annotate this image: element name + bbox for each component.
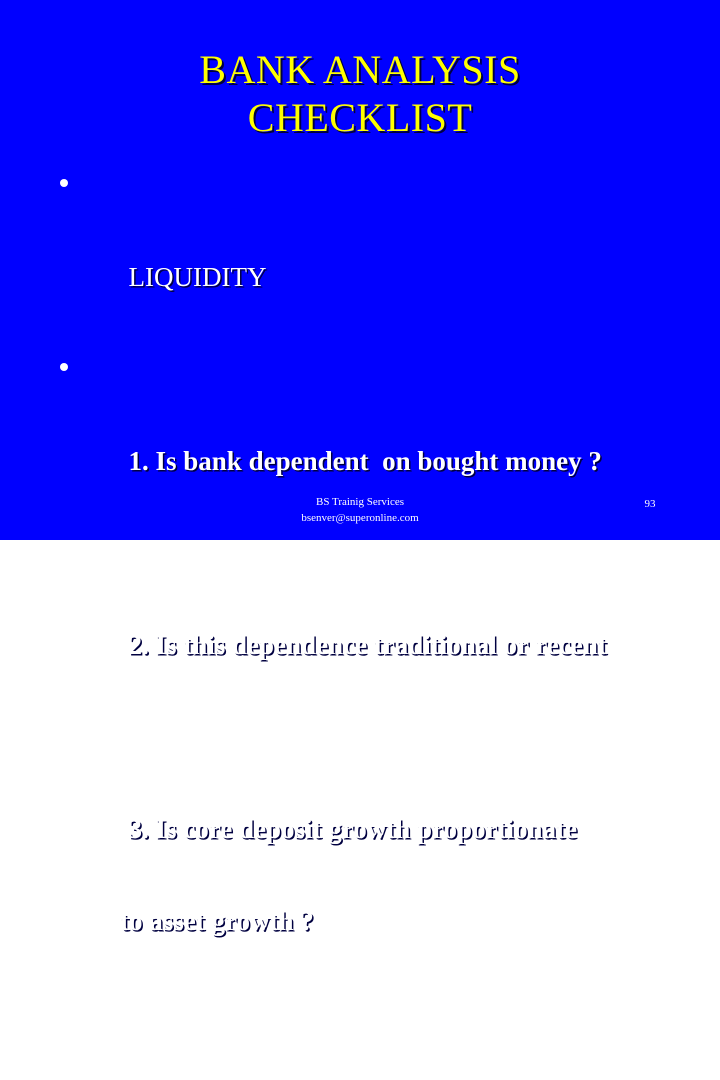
title-line-2: CHECKLIST xyxy=(0,94,720,142)
list-item-label: 1. Is bank dependent on bought money ? xyxy=(129,446,602,476)
title-line-1: BANK ANALYSIS xyxy=(0,46,720,94)
bullet-dot-icon xyxy=(60,179,68,187)
bullet-list: LIQUIDITY 1. Is bank dependent on bought… xyxy=(55,162,680,1080)
footer-email: bsenver@superonline.com xyxy=(0,510,720,526)
bullet-dot-icon xyxy=(60,1063,68,1071)
bullet-dot-icon xyxy=(60,731,68,739)
list-item-label: 2. Is this dependence traditional or rec… xyxy=(129,630,607,660)
slide-title: BANK ANALYSIS CHECKLIST xyxy=(0,46,720,142)
slide-canvas: BANK ANALYSIS CHECKLIST LIQUIDITY 1. Is … xyxy=(0,0,720,540)
list-spacer xyxy=(55,1036,680,1046)
bullet-dot-icon xyxy=(60,547,68,555)
page-number: 93 xyxy=(600,496,700,512)
list-item: 3. Is core deposit growth proportionate … xyxy=(55,714,680,1036)
list-item-label: 3. Is core deposit growth proportionate xyxy=(129,814,578,844)
list-item: LIQUIDITY xyxy=(55,162,680,346)
list-item: 2. Is this dependence traditional or rec… xyxy=(55,530,680,714)
list-item: 4. Is volatile funds significant to asse… xyxy=(55,1046,680,1080)
list-item-label-continued: to asset growth ? xyxy=(88,898,680,944)
bullet-dot-icon xyxy=(60,363,68,371)
list-item-label: LIQUIDITY xyxy=(129,262,267,292)
